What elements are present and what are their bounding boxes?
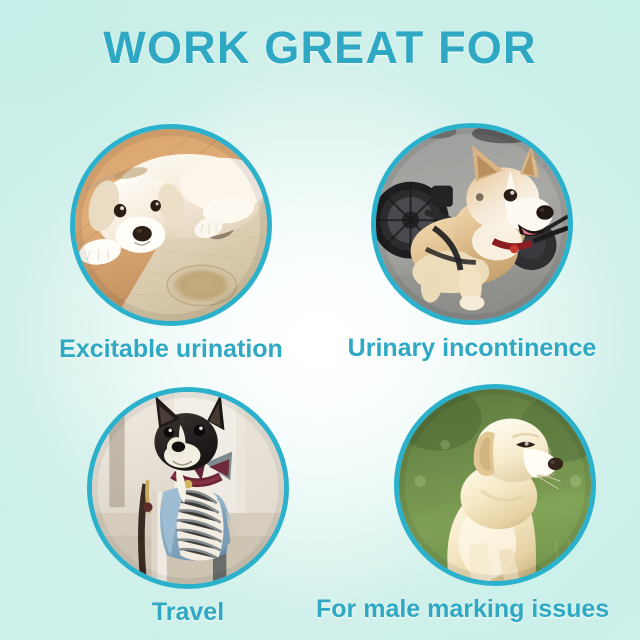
feature-card-travel: Travel bbox=[87, 387, 289, 627]
feature-caption: Excitable urination bbox=[30, 335, 312, 364]
boston-terrier-illustration bbox=[92, 392, 284, 584]
feature-card-male-marking: For male marking issues bbox=[394, 384, 596, 624]
lab-puppy-grass-illustration bbox=[399, 389, 591, 581]
feature-card-urinary-incontinence: Urinary incontinence bbox=[371, 123, 573, 363]
photo-corgi-in-wheelchair bbox=[371, 123, 573, 325]
feature-caption: Urinary incontinence bbox=[329, 334, 615, 363]
feature-caption: For male marking issues bbox=[316, 595, 596, 624]
corgi-wheelchair-illustration bbox=[376, 128, 568, 320]
feature-card-excitable-urination: Excitable urination bbox=[70, 124, 272, 364]
puppy-floor-illustration bbox=[75, 129, 267, 321]
photo-boston-terrier-in-clothes bbox=[87, 387, 289, 589]
feature-caption: Travel bbox=[87, 598, 289, 627]
photo-yellow-lab-puppy-in-grass bbox=[394, 384, 596, 586]
photo-puppy-on-floor-with-stain bbox=[70, 124, 272, 326]
page-title: WORK GREAT FOR bbox=[0, 22, 640, 74]
